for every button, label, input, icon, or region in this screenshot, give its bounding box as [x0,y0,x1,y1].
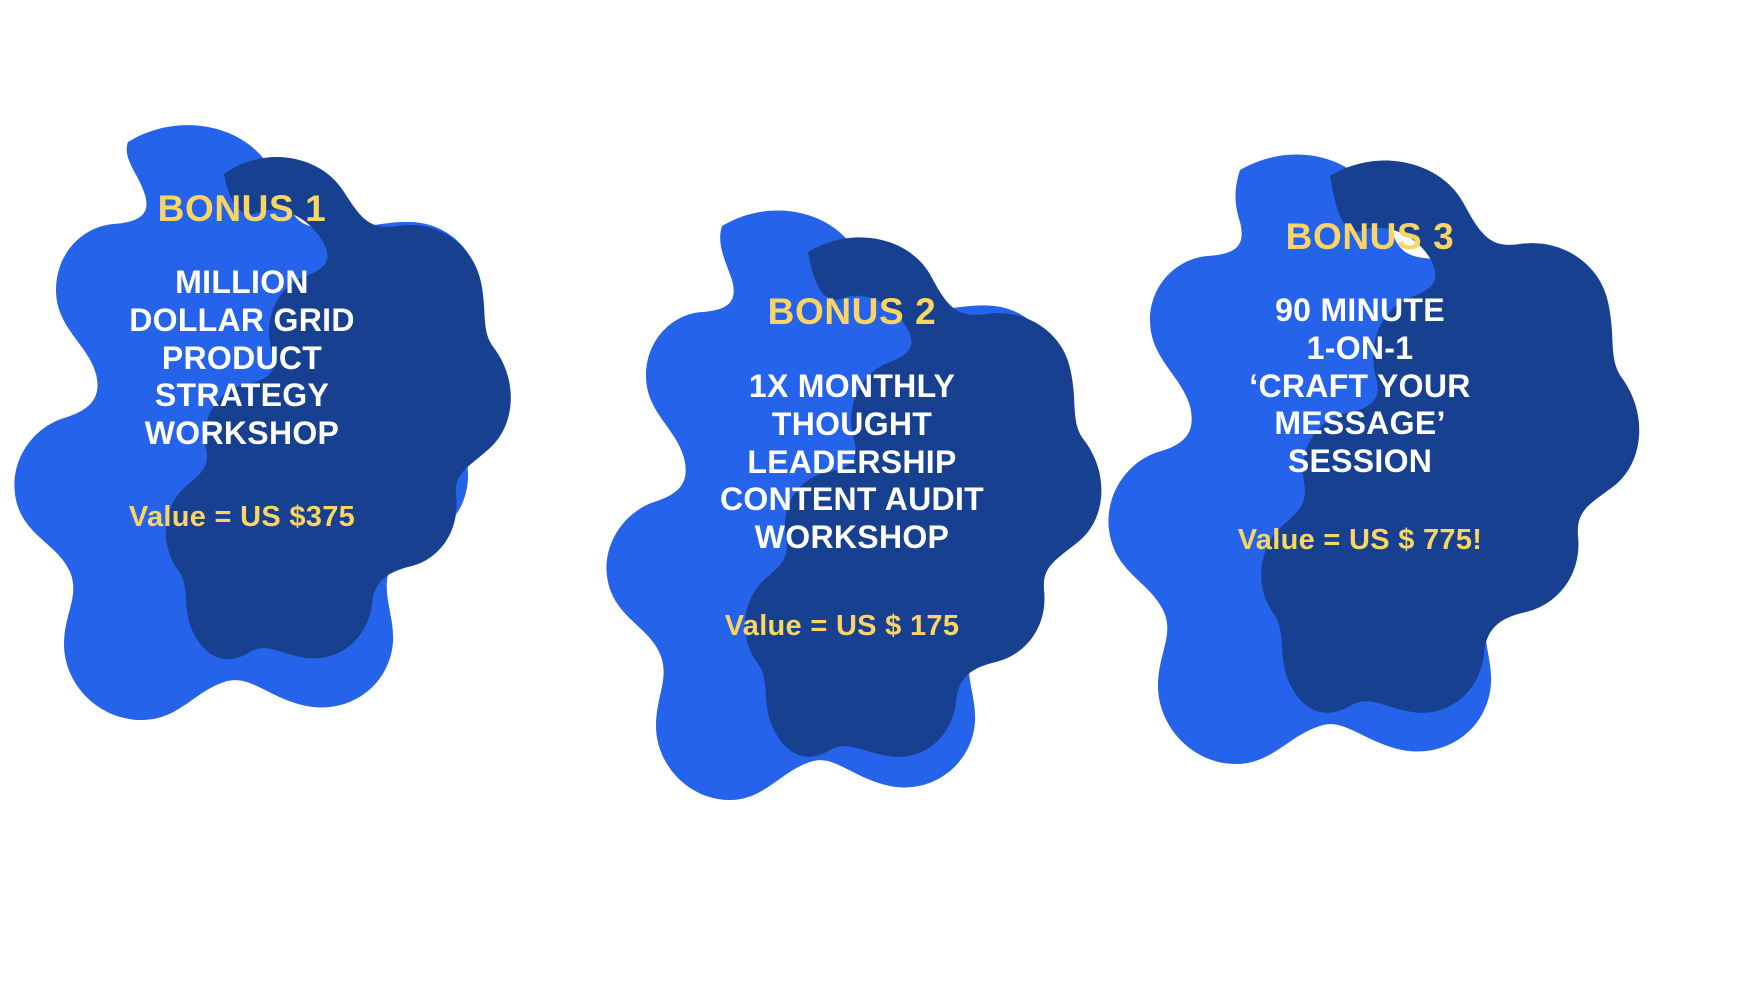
bonus-1-blob-group [2,96,562,816]
bonus-card-2: BONUS 2 1X MONTHLY THOUGHT LEADERSHIP CO… [572,190,1132,910]
bonus-card-3: BONUS 3 90 MINUTE 1-ON-1 ‘CRAFT YOUR MES… [1080,140,1640,860]
bonus-cards-graphic: BONUS 1 MILLION DOLLAR GRID PRODUCT STRA… [0,0,1756,986]
bonus-3-blob-group [1080,140,1640,860]
bonus-card-1: BONUS 1 MILLION DOLLAR GRID PRODUCT STRA… [2,96,562,816]
bonus-2-blob-group [572,190,1132,910]
